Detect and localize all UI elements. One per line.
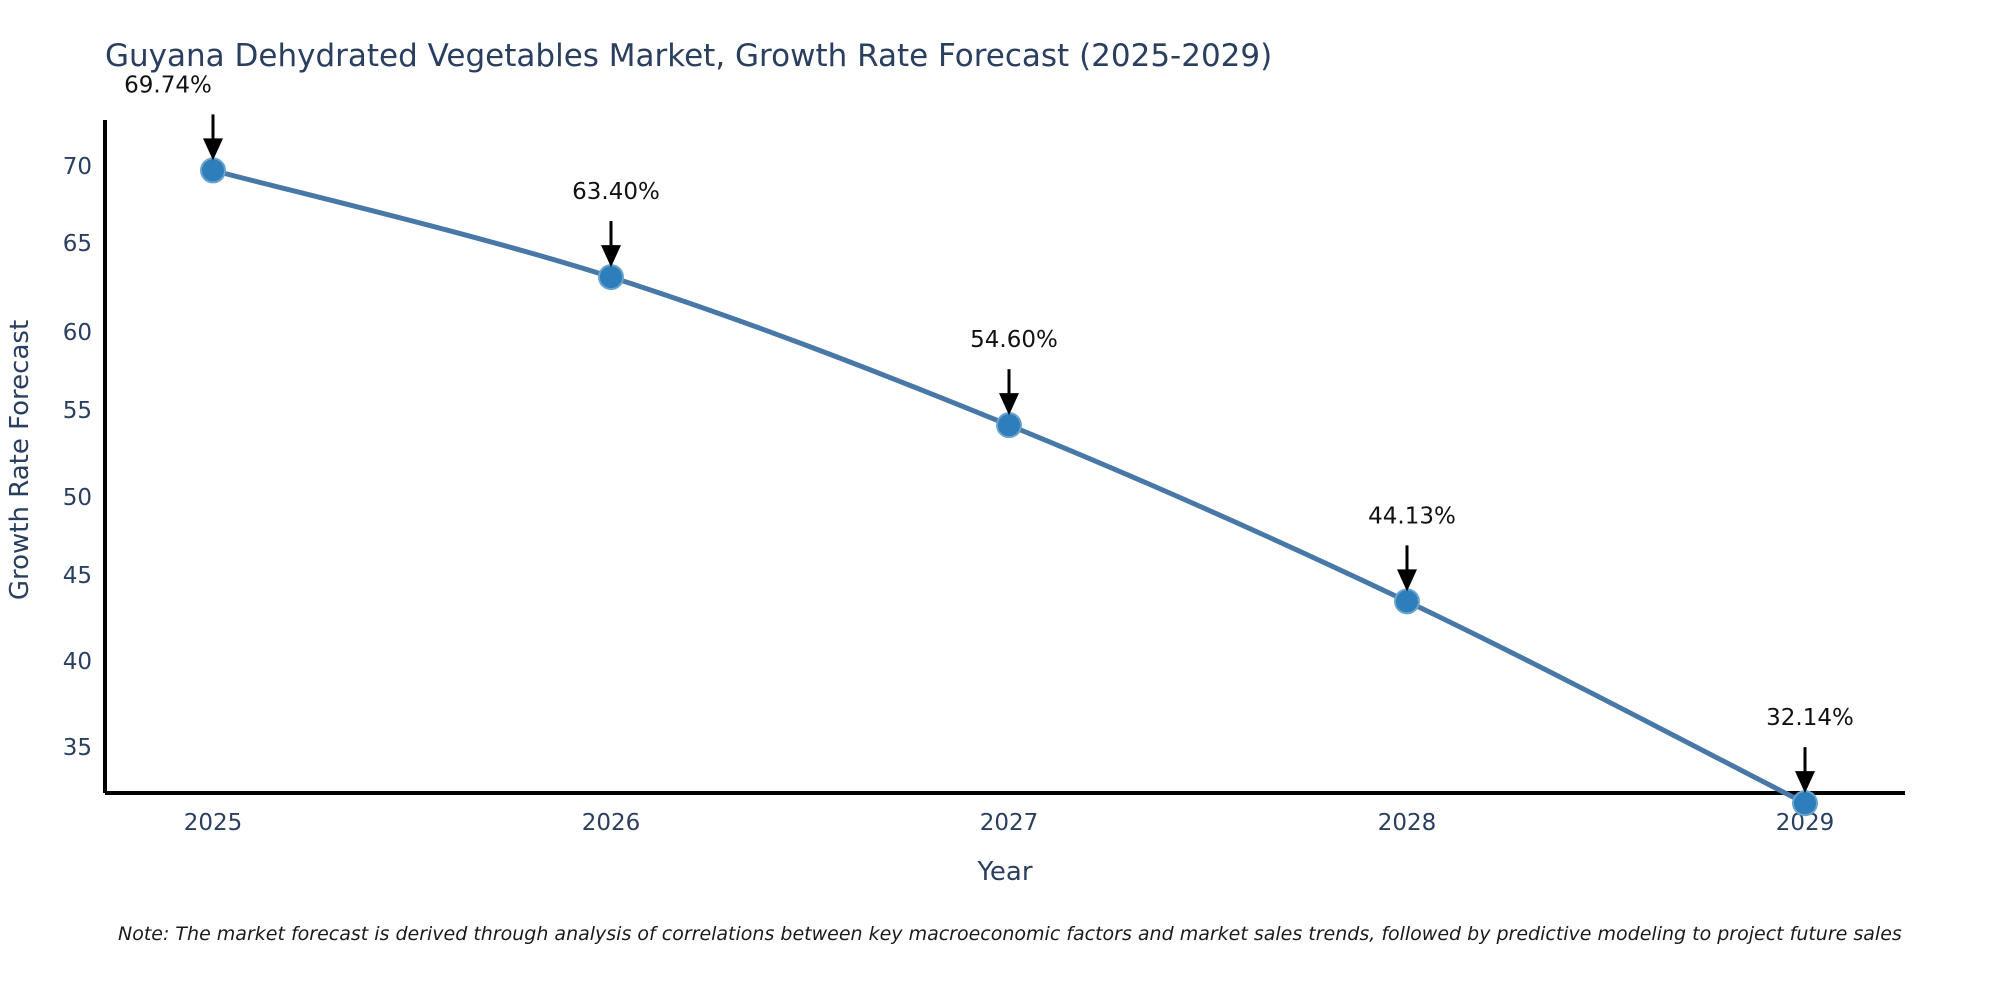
y-axis-title: Growth Rate Forecast [5,320,35,600]
data-point-label: 44.13% [1368,503,1456,529]
y-tick-label: 70 [63,154,92,180]
y-tick-label: 65 [63,231,92,257]
y-tick-label: 55 [63,398,92,424]
chart-figure: Guyana Dehydrated Vegetables Market, Gro… [0,0,2000,1000]
data-point-label: 54.60% [970,327,1058,353]
data-point-label: 63.40% [572,179,660,205]
y-tick-label: 50 [63,485,92,511]
figure-background [0,0,2000,1000]
y-tick-label: 60 [63,320,92,346]
y-tick-label: 35 [63,735,92,761]
data-point-label: 69.74% [124,72,212,98]
x-tick-label: 2025 [184,810,243,836]
data-point-marker[interactable] [1395,589,1419,613]
chart-svg: Guyana Dehydrated Vegetables Market, Gro… [0,0,2000,1000]
data-point-marker[interactable] [201,158,225,182]
x-tick-label: 2027 [980,810,1039,836]
x-tick-label: 2028 [1378,810,1437,836]
data-point-marker[interactable] [997,413,1021,437]
y-tick-label: 45 [63,563,92,589]
y-tick-label: 40 [63,649,92,675]
x-tick-label: 2026 [582,810,641,836]
x-axis-title: Year [976,857,1032,887]
data-point-marker[interactable] [599,265,623,289]
chart-title: Guyana Dehydrated Vegetables Market, Gro… [105,38,1272,74]
data-point-label: 32.14% [1766,705,1854,731]
data-point-marker[interactable] [1793,791,1817,815]
footnote-note: Note: The market forecast is derived thr… [118,923,1902,945]
